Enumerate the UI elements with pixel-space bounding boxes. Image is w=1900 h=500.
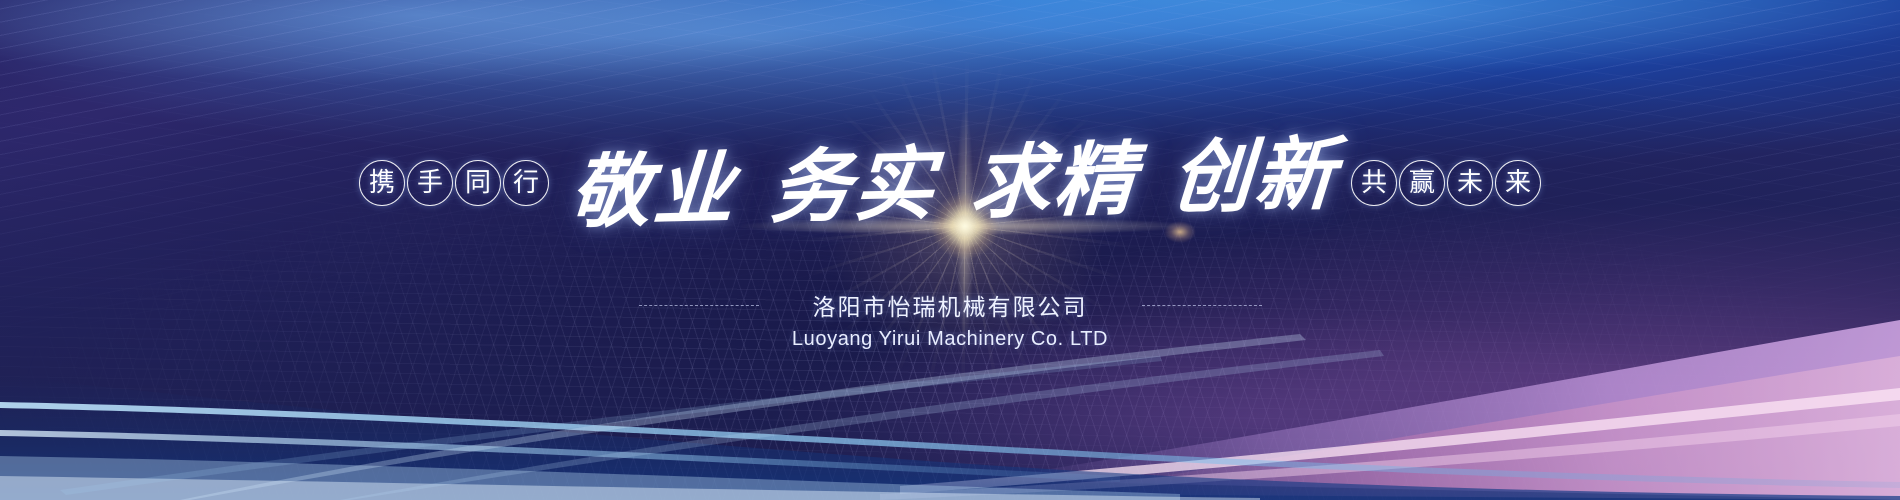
circled-char-1: 携 <box>359 160 405 206</box>
slogan-row: 携 手 同 行 敬业 务实 求精 创新 共 赢 未 来 <box>0 128 1900 238</box>
promo-banner: 携 手 同 行 敬业 务实 求精 创新 共 赢 未 来 洛阳市怡瑞机械有限公司 <box>0 0 1900 500</box>
banner-content: 携 手 同 行 敬业 务实 求精 创新 共 赢 未 来 洛阳市怡瑞机械有限公司 <box>0 0 1900 500</box>
slogan-word-2: 务实 <box>768 143 939 227</box>
circled-char-4: 行 <box>503 160 549 206</box>
slogan-word-4: 创新 <box>1169 134 1340 218</box>
circled-char-7: 未 <box>1447 160 1493 206</box>
company-name-en: Luoyang Yirui Machinery Co. LTD <box>792 328 1108 351</box>
company-name-cn: 洛阳市怡瑞机械有限公司 <box>813 288 1088 322</box>
circled-char-6: 赢 <box>1399 160 1445 206</box>
circled-phrase-left: 携 手 同 行 <box>359 160 549 206</box>
slogan-word-1: 敬业 <box>568 148 739 232</box>
main-slogan-calligraphy: 敬业 务实 求精 创新 <box>568 134 1340 233</box>
circled-char-5: 共 <box>1351 160 1397 206</box>
slogan-word-3: 求精 <box>969 139 1140 223</box>
circled-char-2: 手 <box>407 160 453 206</box>
company-name-row: 洛阳市怡瑞机械有限公司 <box>639 288 1262 322</box>
circled-char-3: 同 <box>455 160 501 206</box>
circled-phrase-right: 共 赢 未 来 <box>1351 160 1541 206</box>
dashed-rule-right <box>1142 305 1262 306</box>
company-identity-block: 洛阳市怡瑞机械有限公司 Luoyang Yirui Machinery Co. … <box>0 288 1900 351</box>
circled-char-8: 来 <box>1495 160 1541 206</box>
dashed-rule-left <box>639 305 759 306</box>
